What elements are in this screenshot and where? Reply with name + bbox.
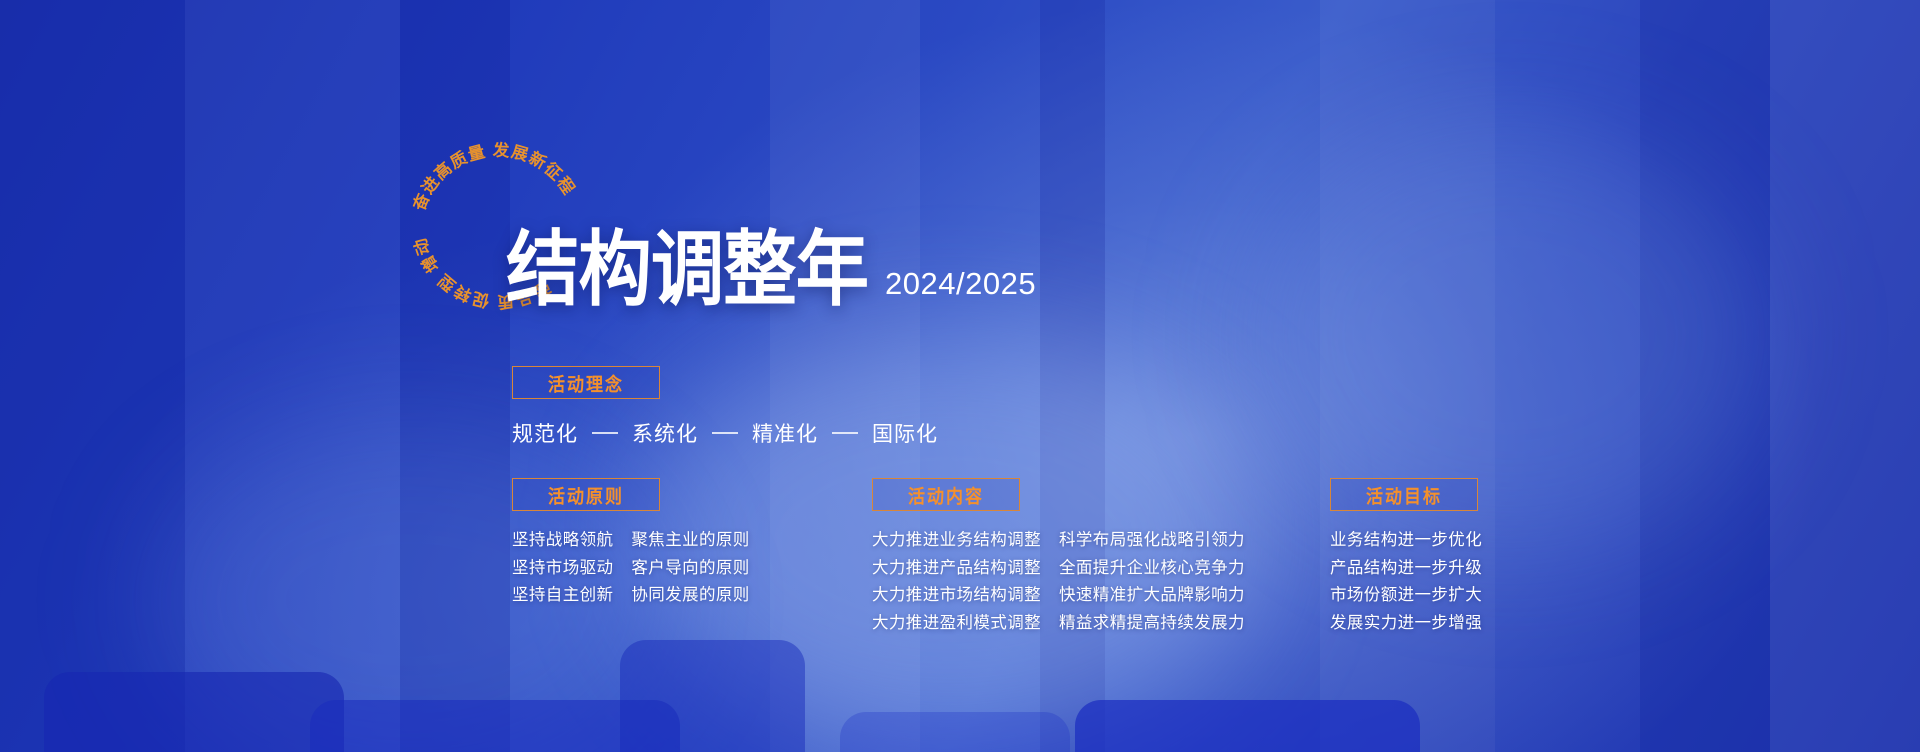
column-activity-principle: 坚持战略领航 聚焦主业的原则 坚持市场驱动 客户导向的原则 坚持自主创新 协同发… [512, 532, 750, 615]
title-block: 结构调整年 2024/2025 [506, 240, 1028, 309]
list-item-part-a: 产品结构进一步升级 [1330, 560, 1482, 577]
bg-band-3 [400, 0, 510, 752]
decorative-rect-3 [620, 640, 805, 752]
badge-activity-concept: 活动理念 [512, 366, 660, 399]
list-item: 坚持自主创新 协同发展的原则 [512, 587, 750, 604]
list-item-part-b: 快速精准扩大品牌影响力 [1059, 587, 1245, 604]
list-item-part-a: 市场份额进一步扩大 [1330, 587, 1482, 604]
tagline-item-4: 国际化 [872, 418, 938, 448]
list-item-part-a: 大力推进产品结构调整 [872, 560, 1041, 577]
badge-activity-content-label: 活动内容 [908, 481, 984, 509]
list-item: 坚持市场驱动 客户导向的原则 [512, 560, 750, 577]
bg-band-2 [185, 0, 400, 752]
bg-band-7 [1640, 0, 1770, 752]
list-item-part-a: 大力推进市场结构调整 [872, 587, 1041, 604]
list-item-part-a: 坚持自主创新 [512, 587, 613, 604]
badge-activity-goal: 活动目标 [1330, 478, 1478, 511]
tagline-dash-3 [832, 432, 858, 434]
concept-tagline: 规范化 系统化 精准化 国际化 [512, 418, 938, 448]
list-item: 产品结构进一步升级 [1330, 560, 1482, 577]
column-activity-content: 大力推进业务结构调整 科学布局强化战略引领力 大力推进产品结构调整 全面提升企业… [872, 532, 1245, 642]
year-label: 2024/2025 [885, 266, 1036, 302]
bg-band-8 [1770, 0, 1920, 752]
page-title: 结构调整年 [506, 230, 868, 309]
emblem-arc-top: 奋进高质量 发展新征程 [408, 140, 579, 215]
bg-band-1 [0, 0, 185, 752]
list-item: 大力推进产品结构调整 全面提升企业核心竞争力 [872, 560, 1245, 577]
list-item-part-a: 业务结构进一步优化 [1330, 532, 1482, 549]
list-item: 大力推进市场结构调整 快速精准扩大品牌影响力 [872, 587, 1245, 604]
badge-activity-content: 活动内容 [872, 478, 1020, 511]
tagline-dash-1 [592, 432, 618, 434]
bg-glow-right [1250, 120, 1770, 550]
list-item: 市场份额进一步扩大 [1330, 587, 1482, 604]
emblem-arc-top-text: 奋进高质量 发展新征程 [408, 140, 579, 215]
badge-activity-concept-label: 活动理念 [548, 369, 624, 397]
decorative-rect-1 [44, 672, 344, 752]
list-item: 大力推进业务结构调整 科学布局强化战略引领力 [872, 532, 1245, 549]
list-item: 大力推进盈利模式调整 精益求精提高持续发展力 [872, 615, 1245, 632]
list-item: 坚持战略领航 聚焦主业的原则 [512, 532, 750, 549]
list-item-part-a: 大力推进业务结构调整 [872, 532, 1041, 549]
list-item-part-a: 大力推进盈利模式调整 [872, 615, 1041, 632]
decorative-rect-4 [1075, 700, 1420, 752]
list-item-part-a: 发展实力进一步增强 [1330, 615, 1482, 632]
decorative-rect-2 [310, 700, 680, 752]
list-item-part-b: 全面提升企业核心竞争力 [1059, 560, 1245, 577]
list-item-part-a: 坚持市场驱动 [512, 560, 613, 577]
list-item-part-b: 聚焦主业的原则 [631, 532, 749, 549]
list-item: 发展实力进一步增强 [1330, 615, 1482, 632]
list-item-part-a: 坚持战略领航 [512, 532, 613, 549]
badge-activity-principle: 活动原则 [512, 478, 660, 511]
badge-activity-goal-label: 活动目标 [1366, 481, 1442, 509]
tagline-dash-2 [712, 432, 738, 434]
list-item-part-b: 精益求精提高持续发展力 [1059, 615, 1245, 632]
list-item-part-b: 科学布局强化战略引领力 [1059, 532, 1245, 549]
badge-activity-principle-label: 活动原则 [548, 481, 624, 509]
list-item-part-b: 协同发展的原则 [631, 587, 749, 604]
list-item-part-b: 客户导向的原则 [631, 560, 749, 577]
decorative-rect-5 [840, 712, 1070, 752]
column-activity-goal: 业务结构进一步优化 产品结构进一步升级 市场份额进一步扩大 发展实力进一步增强 [1330, 532, 1482, 642]
list-item: 业务结构进一步优化 [1330, 532, 1482, 549]
tagline-item-3: 精准化 [752, 418, 818, 448]
poster-stage: 奋进高质量 发展新征程 强品质 促转型 增动能 结构调整年 2024/2025 … [0, 0, 1920, 752]
tagline-item-2: 系统化 [632, 418, 698, 448]
tagline-item-1: 规范化 [512, 418, 578, 448]
